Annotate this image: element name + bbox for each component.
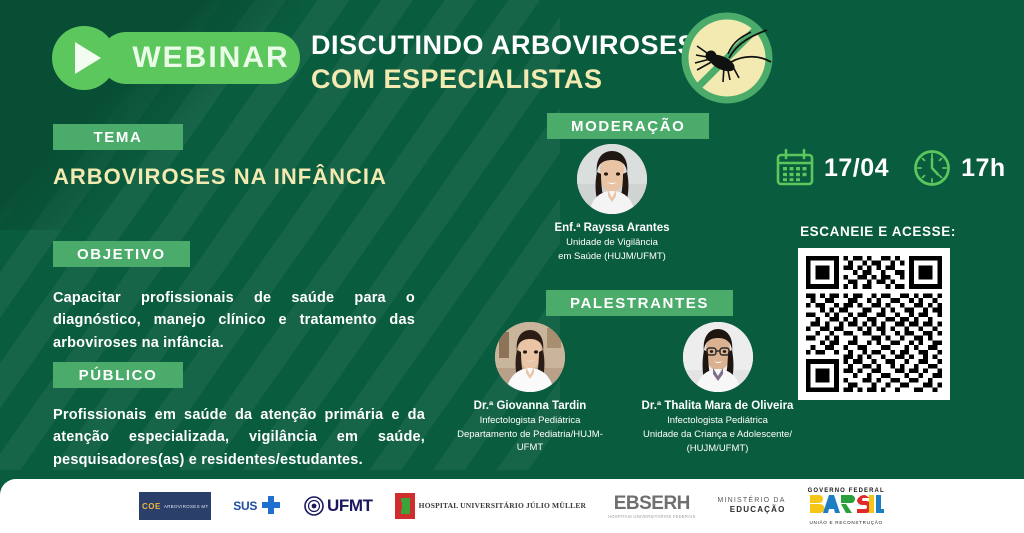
speaker-role-1: Infectologista Pediátrica bbox=[455, 415, 605, 428]
cross-icon bbox=[260, 495, 282, 517]
objetivo-badge: OBJETIVO bbox=[53, 241, 190, 267]
avatar bbox=[495, 322, 565, 392]
title-line-2: COM ESPECIALISTAS bbox=[311, 64, 711, 95]
logo-mec-primary: MINISTÉRIO DA bbox=[717, 497, 785, 506]
palestrantes-badge-label: PALESTRANTES bbox=[570, 295, 709, 312]
objetivo-text: Capacitar profissionais de saúde para o … bbox=[53, 287, 415, 354]
moderator-card: Enf.ª Rayssa Arantes Unidade de Vigilânc… bbox=[532, 144, 692, 264]
speaker-name: Dr.ª Giovanna Tardin bbox=[455, 399, 605, 414]
moderator-name: Enf.ª Rayssa Arantes bbox=[532, 221, 692, 236]
logo-ebserh-secondary: HOSPITAIS UNIVERSITÁRIOS FEDERAIS bbox=[608, 514, 695, 519]
speaker-role-2: Unidade da Criança e Adolescente/ bbox=[635, 429, 800, 442]
webinar-poster: WEBINAR DISCUTINDO ARBOVIROSES COM ESPEC… bbox=[0, 0, 1024, 533]
date-time-row: 17/04 17h bbox=[775, 148, 1006, 188]
date-value: 17/04 bbox=[824, 154, 889, 183]
objetivo-badge-label: OBJETIVO bbox=[77, 246, 166, 263]
logo-sus: SUS bbox=[233, 489, 282, 523]
webinar-pill: WEBINAR bbox=[100, 32, 300, 84]
moderacao-badge: MODERAÇÃO bbox=[547, 113, 709, 139]
moderator-role-1: Unidade de Vigilância bbox=[532, 237, 692, 250]
webinar-label: WEBINAR bbox=[110, 41, 289, 75]
time-value: 17h bbox=[961, 154, 1006, 183]
tema-badge: TEMA bbox=[53, 124, 183, 150]
speaker-role-3: (HUJM/UFMT) bbox=[635, 443, 800, 456]
publico-text: Profissionais em saúde da atenção primár… bbox=[53, 404, 425, 471]
speaker-card: Dr.ª Thalita Mara de Oliveira Infectolog… bbox=[635, 322, 800, 455]
speaker-card: Dr.ª Giovanna Tardin Infectologista Pedi… bbox=[455, 322, 605, 454]
logo-mec: MINISTÉRIO DA EDUCAÇÃO bbox=[717, 489, 785, 523]
tema-badge-label: TEMA bbox=[94, 129, 143, 146]
palestrantes-badge: PALESTRANTES bbox=[546, 290, 733, 316]
brasil-wordmark-icon bbox=[808, 494, 884, 514]
webinar-badge: WEBINAR bbox=[52, 26, 300, 90]
play-icon bbox=[52, 26, 116, 90]
moderacao-badge-label: MODERAÇÃO bbox=[571, 118, 685, 135]
qr-code[interactable] bbox=[798, 248, 950, 400]
scan-label: ESCANEIE E ACESSE: bbox=[778, 224, 978, 239]
poster-title: DISCUTINDO ARBOVIROSES COM ESPECIALISTAS bbox=[311, 30, 711, 95]
logo-coe-primary: COE bbox=[142, 502, 161, 511]
publico-badge: PÚBLICO bbox=[53, 362, 183, 388]
logo-hujm: HOSPITAL UNIVERSITÁRIO JÚLIO MÜLLER bbox=[395, 489, 587, 523]
avatar bbox=[683, 322, 753, 392]
footer-logo-bar: COE ARBOVIROSES MT SUS UFMT bbox=[0, 479, 1024, 533]
logo-ebserh: EBSERH HOSPITAIS UNIVERSITÁRIOS FEDERAIS bbox=[608, 489, 695, 523]
play-triangle bbox=[75, 42, 101, 74]
mosquito-prohibited-icon bbox=[667, 8, 787, 108]
speaker-role-2: Departamento de Pediatria/HUJM-UFMT bbox=[455, 429, 605, 455]
calendar-icon bbox=[775, 148, 815, 188]
tema-value: ARBOVIROSES NA INFÂNCIA bbox=[53, 164, 433, 190]
logo-hujm-primary: HOSPITAL UNIVERSITÁRIO JÚLIO MÜLLER bbox=[419, 502, 587, 511]
logo-ufmt: UFMT bbox=[304, 489, 373, 523]
moderator-role-2: em Saúde (HUJM/UFMT) bbox=[532, 251, 692, 264]
speaker-role-1: Infectologista Pediátrica bbox=[635, 415, 800, 428]
clock-icon bbox=[912, 148, 952, 188]
logo-ebserh-primary: EBSERH bbox=[608, 494, 695, 513]
logo-governo-federal: GOVERNO FEDERAL UNIÃO E RECONSTRUÇÃO bbox=[808, 489, 885, 523]
logo-ufmt-primary: UFMT bbox=[327, 496, 373, 516]
logo-coe-secondary: ARBOVIROSES MT bbox=[164, 504, 209, 509]
title-line-1: DISCUTINDO ARBOVIROSES bbox=[311, 30, 711, 61]
logo-sus-primary: SUS bbox=[233, 499, 257, 513]
avatar bbox=[577, 144, 647, 214]
speaker-name: Dr.ª Thalita Mara de Oliveira bbox=[635, 399, 800, 414]
logo-mec-secondary: EDUCAÇÃO bbox=[717, 505, 785, 515]
logo-gov-tertiary: UNIÃO E RECONSTRUÇÃO bbox=[808, 520, 885, 525]
logo-coe: COE ARBOVIROSES MT bbox=[139, 489, 211, 523]
seal-icon bbox=[304, 496, 324, 516]
flag-icon bbox=[395, 493, 415, 519]
publico-badge-label: PÚBLICO bbox=[79, 367, 158, 384]
